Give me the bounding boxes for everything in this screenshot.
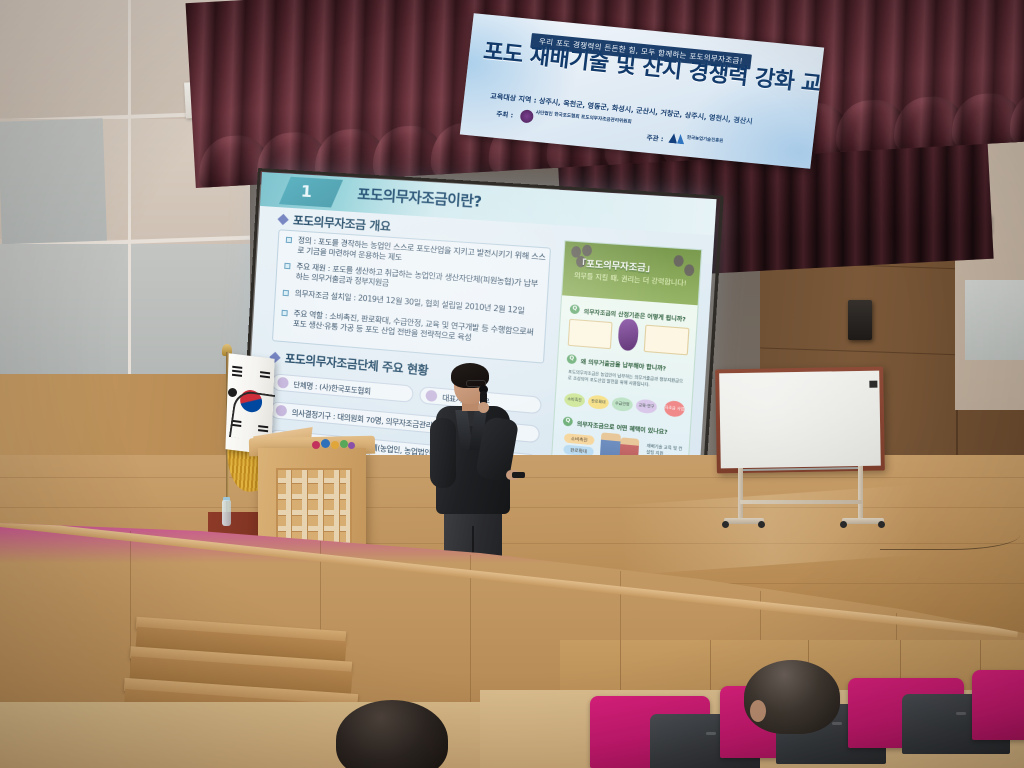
info-sub-card [644,325,690,356]
infographic-header: 「포도의무자조금」 의무를 지킬 때, 권리는 더 강력합니다! [562,241,701,305]
benefit-chip: 소비촉진 [564,433,595,445]
seat-notch [832,722,842,725]
rolling-whiteboard[interactable] [715,367,885,474]
auditorium-photo-scene: 우리 포도 경쟁력의 든든한 힘, 모두 함께하는 포도의무자조금! 포도 재배… [0,0,1024,768]
info-sub-card [568,319,613,349]
infographic-chip: 교육·연구 [636,399,658,414]
grape-icon [673,255,684,267]
seat-notch [956,712,966,715]
grape-icon [582,245,592,257]
trigram-icon [232,370,242,373]
panel-seam-vertical [128,0,131,380]
acoustic-panel-gray [0,244,250,374]
grape-association-logo-icon [520,109,534,123]
question-badge-icon: Q [563,416,573,426]
infographic-chip: 자조금 사업 [664,400,685,418]
whiteboard-clip-icon [869,381,877,388]
grape-icon [684,264,695,276]
infographic-chip: 수급안정 [612,397,634,412]
banner-host-label: 주최 : [496,108,514,120]
emblem-dot-icon [331,441,339,449]
bullet-square-icon [283,290,289,296]
bullet-square-icon [281,310,287,316]
trigram-icon [232,374,242,377]
floor-cable [880,520,1020,550]
emblem-dot-icon [312,441,320,449]
banner-organizer-label: 주관 : [646,132,664,144]
trigram-icon [260,371,270,374]
audience-member-ear [750,700,766,722]
seat-notch [706,732,716,735]
lectern-emblem [312,438,356,453]
question-badge-icon: Q [570,304,580,314]
emblem-dot-icon [321,439,330,448]
wall-mounted-speaker [848,300,872,340]
infographic-chip: 판로확대 [588,395,609,410]
whiteboard-surface[interactable] [719,371,881,469]
slide-number-text: 1 [300,181,312,201]
caster-wheel-icon [758,521,765,528]
water-bottle [222,500,231,526]
question-badge-icon: Q [567,354,577,364]
banner-organizer-org: 한국농업기술진흥원 [687,136,724,145]
trigram-icon [232,366,242,369]
caster-wheel-icon [722,521,729,528]
microphone-capsule-icon [228,388,237,397]
whiteboard-stand-crossbar [740,500,862,504]
trigram-icon [260,375,270,378]
emblem-dot-icon [348,442,355,449]
grape-mascot-icon [617,318,639,351]
presenter-hand-holding-mic [478,402,489,413]
infographic-question-3: 의무자조금으로 어떤 혜택이 있나요? [577,420,668,437]
bullet-diamond-icon [277,214,288,225]
floor-reflection [618,485,922,576]
right-wall-gray-panel [965,280,1024,360]
audience-member-head [744,660,840,734]
bullet-square-icon [286,237,292,243]
infographic-body-text: 포도의무자조금은 농업인이 납부하는 의무거출금과 정부지원금으로 조성되어 포… [568,369,687,391]
presenter-arm-left [430,418,456,488]
infographic-chip: 소비촉진 [564,392,585,407]
presentation-clicker [512,472,525,478]
agency-logo-icon [668,133,685,144]
whiteboard-stand-leg [738,468,743,522]
emblem-dot-icon [340,440,348,448]
auditorium-seat[interactable] [972,670,1024,740]
caster-wheel-icon [840,521,847,528]
bullet-square-icon [284,263,290,269]
whiteboard-stand-leg [858,466,863,522]
acoustic-panel-gray [0,118,107,252]
slide-section2-heading: 포도의무자조금단체 주요 현황 [284,350,428,378]
